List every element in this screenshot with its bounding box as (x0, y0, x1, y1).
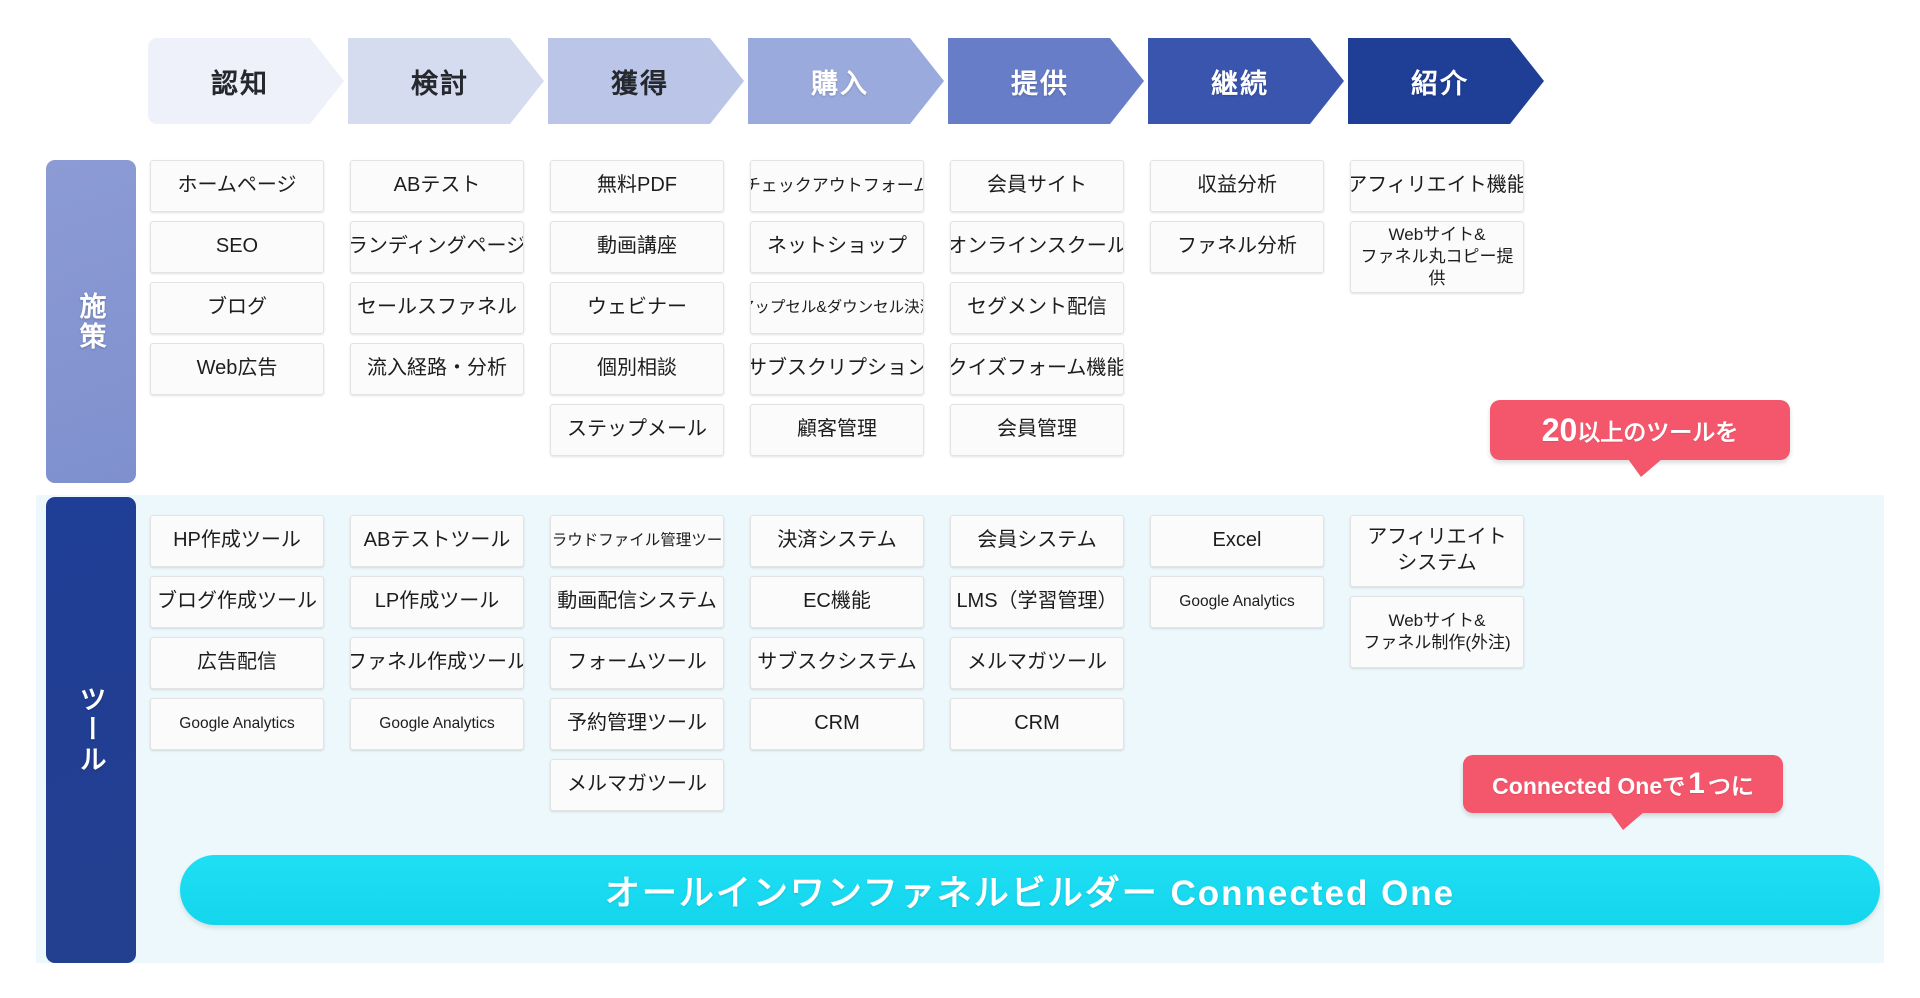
measure-card: 収益分析 (1150, 160, 1324, 212)
callout-connected-number: 1 (1685, 767, 1708, 801)
stage-header-label: 検討 (411, 62, 481, 101)
tool-card: 決済システム (750, 515, 924, 567)
callout-tools-count-number: 20 (1542, 412, 1578, 449)
callout-connected-one: Connected Oneで 1 つに (1463, 755, 1783, 813)
stage-header-4: 購入 (748, 38, 944, 124)
cta-bar-label: オールインワンファネルビルダー Connected One (605, 865, 1455, 916)
tool-card: フォームツール (550, 637, 724, 689)
measure-card: ステップメール (550, 404, 724, 456)
measure-card: アフィリエイト機能 (1350, 160, 1524, 212)
tool-card: ブログ作成ツール (150, 576, 324, 628)
measure-column-7: アフィリエイト機能Webサイト&ファネル丸コピー提供 (1350, 160, 1524, 302)
tool-column-3: クラウドファイル管理ツール動画配信システムフォームツール予約管理ツールメルマガツ… (550, 515, 724, 820)
stage-header-2: 検討 (348, 38, 544, 124)
row-label-tools: ツール (46, 497, 136, 963)
measure-column-3: 無料PDF動画講座ウェビナー個別相談ステップメール (550, 160, 724, 465)
stage-header-row: 認知検討獲得購入提供継続紹介 (0, 38, 1920, 124)
measure-column-2: ABテストランディングページセールスファネル流入経路・分析 (350, 160, 524, 404)
tool-card: Excel (1150, 515, 1324, 567)
measure-card: 個別相談 (550, 343, 724, 395)
callout-connected-suffix: つに (1708, 767, 1754, 801)
measure-card: ブログ (150, 282, 324, 334)
cta-bar[interactable]: オールインワンファネルビルダー Connected One (180, 855, 1880, 925)
stage-header-1: 認知 (148, 38, 344, 124)
tool-card: ABテストツール (350, 515, 524, 567)
tool-card: 動画配信システム (550, 576, 724, 628)
tool-card: ファネル作成ツール (350, 637, 524, 689)
measure-card: 無料PDF (550, 160, 724, 212)
stage-header-label: 認知 (211, 62, 281, 101)
measure-card: 会員サイト (950, 160, 1124, 212)
tool-card: Google Analytics (1150, 576, 1324, 628)
measure-card: 流入経路・分析 (350, 343, 524, 395)
stage-header-5: 提供 (948, 38, 1144, 124)
tool-card: 広告配信 (150, 637, 324, 689)
measure-card: SEO (150, 221, 324, 273)
measure-column-5: 会員サイトオンラインスクールセグメント配信クイズフォーム機能会員管理 (950, 160, 1124, 465)
row-label-measures: 施策 (46, 160, 136, 483)
tool-card: メルマガツール (550, 759, 724, 811)
tool-card: HP作成ツール (150, 515, 324, 567)
row-label-measures-text: 施策 (72, 292, 111, 352)
tool-card: Webサイト&ファネル制作(外注) (1350, 596, 1524, 668)
stage-header-6: 継続 (1148, 38, 1344, 124)
stage-header-3: 獲得 (548, 38, 744, 124)
infographic-root: 認知検討獲得購入提供継続紹介 施策 ツール ホームページSEOブログWeb広告A… (0, 0, 1920, 998)
tool-card: Google Analytics (150, 698, 324, 750)
tool-card: CRM (750, 698, 924, 750)
measure-card: ファネル分析 (1150, 221, 1324, 273)
measure-card: ABテスト (350, 160, 524, 212)
tool-card: 予約管理ツール (550, 698, 724, 750)
measure-column-1: ホームページSEOブログWeb広告 (150, 160, 324, 404)
tool-column-1: HP作成ツールブログ作成ツール広告配信Google Analytics (150, 515, 324, 759)
measure-card: セグメント配信 (950, 282, 1124, 334)
row-label-tools-text: ツール (72, 685, 111, 775)
stage-header-7: 紹介 (1348, 38, 1544, 124)
tool-card: サブスクシステム (750, 637, 924, 689)
measure-card: ホームページ (150, 160, 324, 212)
tool-column-4: 決済システムEC機能サブスクシステムCRM (750, 515, 924, 759)
measure-card: ランディングページ (350, 221, 524, 273)
measure-card: Webサイト&ファネル丸コピー提供 (1350, 221, 1524, 293)
tool-column-5: 会員システムLMS（学習管理）メルマガツールCRM (950, 515, 1124, 759)
stage-header-label: 提供 (1011, 62, 1081, 101)
tool-card: LMS（学習管理） (950, 576, 1124, 628)
measure-card: サブスクリプション (750, 343, 924, 395)
stage-header-label: 継続 (1211, 62, 1281, 101)
stage-header-label: 紹介 (1411, 62, 1481, 101)
tool-card: CRM (950, 698, 1124, 750)
measure-card: ウェビナー (550, 282, 724, 334)
measure-card: チェックアウトフォーム (750, 160, 924, 212)
tool-card: メルマガツール (950, 637, 1124, 689)
callout-connected-prefix: Connected Oneで (1492, 767, 1685, 801)
callout-tools-count-text: 以上のツールを (1577, 413, 1738, 447)
measure-card: ネットショップ (750, 221, 924, 273)
tool-column-2: ABテストツールLP作成ツールファネル作成ツールGoogle Analytics (350, 515, 524, 759)
stage-header-label: 購入 (811, 62, 881, 101)
measure-card: 会員管理 (950, 404, 1124, 456)
tool-column-7: アフィリエイトシステムWebサイト&ファネル制作(外注) (1350, 515, 1524, 677)
tool-card: クラウドファイル管理ツール (550, 515, 724, 567)
tool-card: 会員システム (950, 515, 1124, 567)
measure-card: セールスファネル (350, 282, 524, 334)
tool-card: EC機能 (750, 576, 924, 628)
measure-card: クイズフォーム機能 (950, 343, 1124, 395)
stage-header-label: 獲得 (611, 62, 681, 101)
measure-card: 顧客管理 (750, 404, 924, 456)
measure-column-4: チェックアウトフォームネットショップアップセル&ダウンセル決済サブスクリプション… (750, 160, 924, 465)
tool-card: Google Analytics (350, 698, 524, 750)
measure-card: オンラインスクール (950, 221, 1124, 273)
tool-card: アフィリエイトシステム (1350, 515, 1524, 587)
tool-card: LP作成ツール (350, 576, 524, 628)
callout-tools-count: 20 以上のツールを (1490, 400, 1790, 460)
measure-card: 動画講座 (550, 221, 724, 273)
measure-card: アップセル&ダウンセル決済 (750, 282, 924, 334)
measure-card: Web広告 (150, 343, 324, 395)
measure-column-6: 収益分析ファネル分析 (1150, 160, 1324, 282)
tool-column-6: ExcelGoogle Analytics (1150, 515, 1324, 637)
